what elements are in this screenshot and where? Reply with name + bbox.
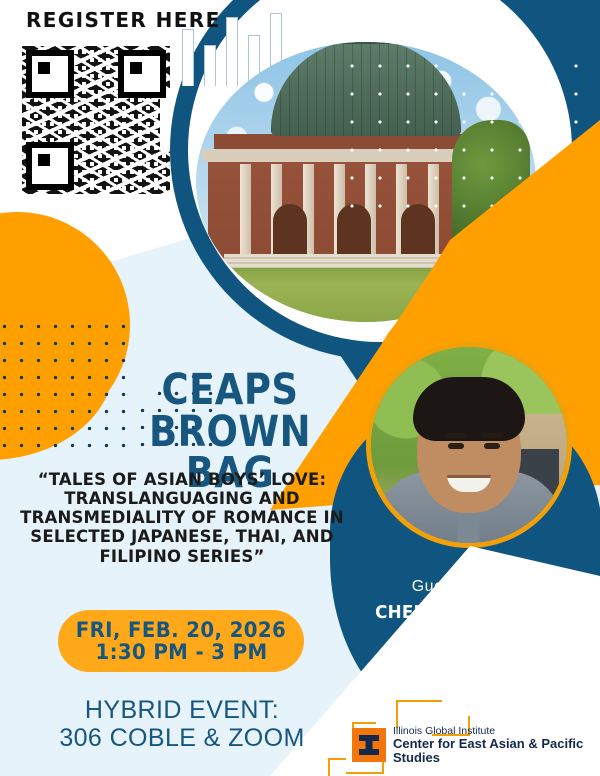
register-here-label: REGISTER HERE bbox=[26, 8, 221, 32]
affiliation-line-5: Sciences bbox=[352, 693, 582, 710]
bracket-decoration bbox=[328, 758, 346, 776]
portrait-eyebrow-left bbox=[445, 433, 467, 438]
date-time-badge: FRI, FEB. 20, 2026 1:30 PM - 3 PM bbox=[58, 610, 304, 672]
affiliation-line-2: Research Associate bbox=[352, 643, 582, 660]
talk-subtitle: “TALES OF ASIAN BOYS’ LOVE: TRANSLANGUAG… bbox=[14, 470, 350, 566]
illinois-global-institute-logo: Illinois Global Institute Center for Eas… bbox=[352, 726, 600, 764]
qr-finder-bottom-left-icon bbox=[26, 142, 74, 190]
event-location: HYBRID EVENT: 306 COBLE & ZOOM bbox=[24, 696, 340, 752]
speaker-affiliation: Postdoctoral Research Associate School o… bbox=[352, 626, 582, 710]
event-poster: REGISTER HERE CEAPS BROWN BAG “TALES OF … bbox=[0, 0, 600, 776]
photo-column bbox=[240, 164, 251, 260]
logo-text: Illinois Global Institute Center for Eas… bbox=[393, 726, 600, 764]
bar-decoration bbox=[182, 29, 194, 86]
illinois-block-i-icon bbox=[352, 728, 386, 762]
portrait-eye-left bbox=[448, 443, 464, 449]
qr-finder-top-left-icon bbox=[26, 50, 74, 98]
event-time: 1:30 PM - 3 PM bbox=[95, 641, 267, 663]
logo-line-2: Center for East Asian & Pacific Studies bbox=[393, 737, 600, 764]
guest-speaker-label: Guest speaker bbox=[336, 578, 598, 596]
qr-finder-top-right-icon bbox=[118, 50, 166, 98]
affiliation-line-1: Postdoctoral bbox=[352, 626, 582, 643]
block-i-bottom-bar bbox=[359, 749, 379, 755]
portrait-eyebrow-right bbox=[481, 433, 503, 438]
location-line-2: 306 COBLE & ZOOM bbox=[24, 724, 340, 752]
speaker-portrait-photo bbox=[366, 342, 572, 548]
affiliation-line-4: Information bbox=[352, 676, 582, 693]
photo-dome-lantern bbox=[339, 42, 393, 44]
location-line-1: HYBRID EVENT: bbox=[24, 696, 340, 724]
qr-quiet-zone bbox=[160, 90, 170, 150]
event-date: FRI, FEB. 20, 2026 bbox=[76, 619, 286, 641]
portrait-hair bbox=[413, 377, 525, 441]
qr-code[interactable] bbox=[22, 46, 170, 194]
affiliation-line-3: School of bbox=[352, 660, 582, 677]
portrait-eye-right bbox=[484, 443, 500, 449]
photo-door bbox=[273, 204, 307, 258]
